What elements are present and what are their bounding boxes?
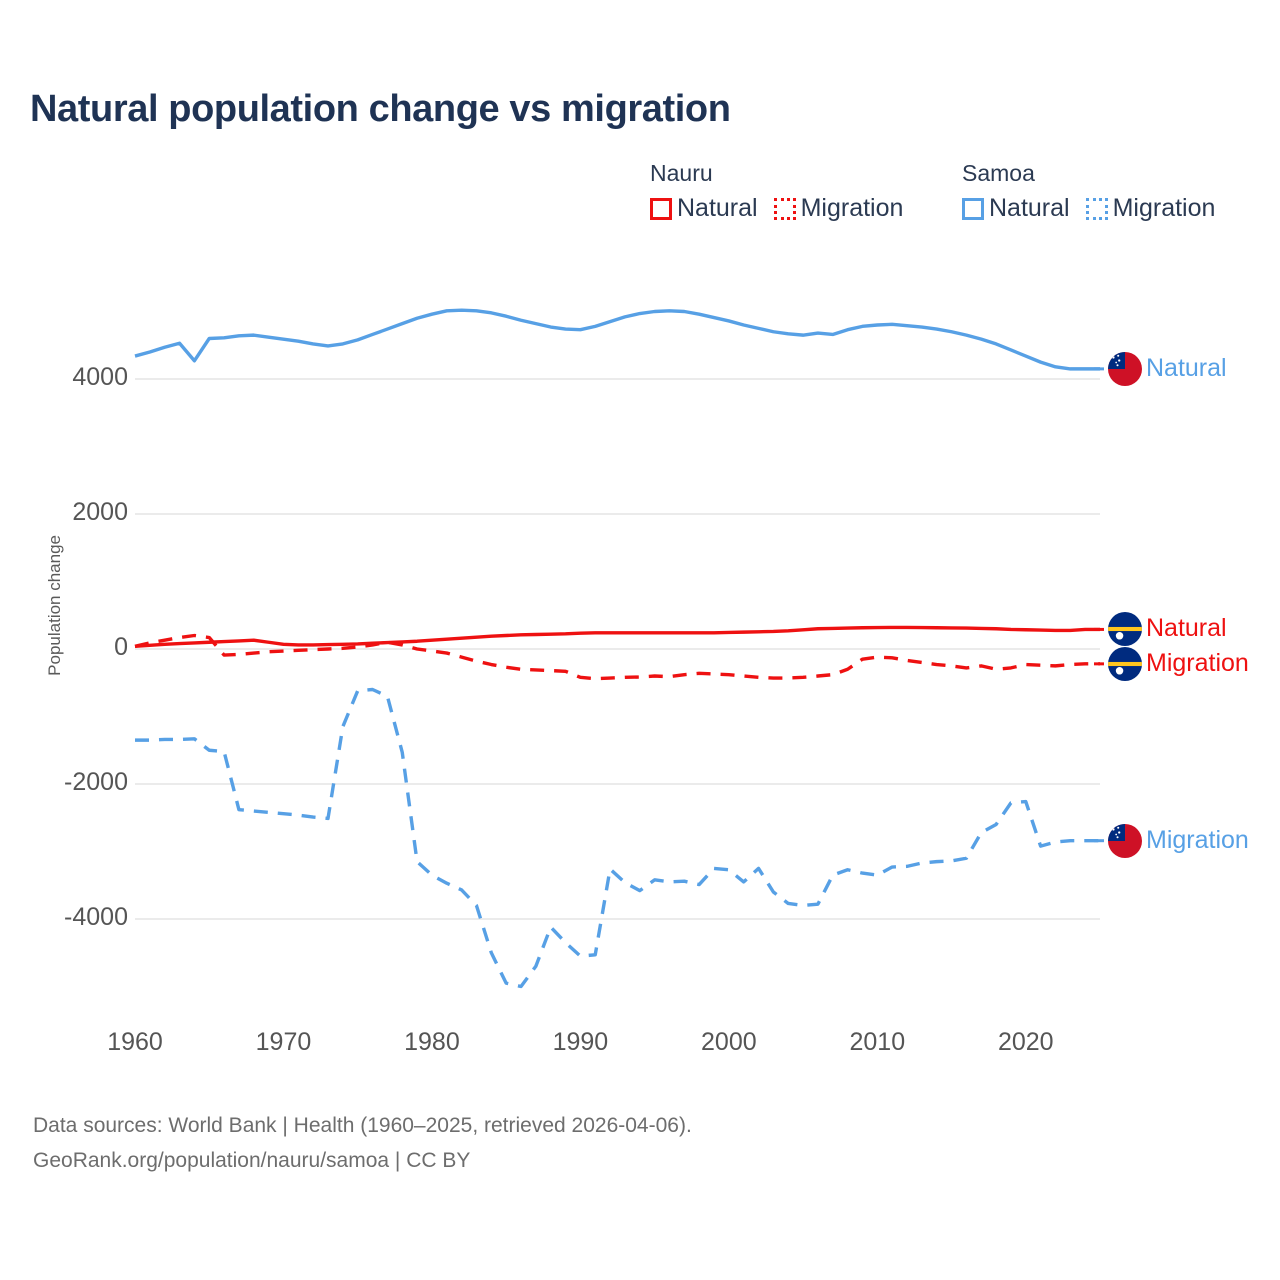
series-line-samoa-migration bbox=[135, 690, 1100, 987]
samoa-star-2 bbox=[1118, 359, 1120, 361]
nauru-stripe bbox=[1108, 662, 1142, 666]
legend-group-nauru: NauruNaturalMigration bbox=[650, 160, 903, 221]
x-tick-label: 2010 bbox=[849, 1028, 905, 1057]
footer-credits: Data sources: World Bank | Health (1960–… bbox=[33, 1108, 692, 1178]
end-label-samoa-natural: Natural bbox=[1146, 356, 1227, 381]
x-tick-label: 1960 bbox=[107, 1028, 163, 1057]
legend-swatch-dotted-icon bbox=[1086, 198, 1108, 220]
page-title: Natural population change vs migration bbox=[30, 88, 731, 131]
x-tick-label: 1990 bbox=[553, 1028, 609, 1057]
y-tick-label: 2000 bbox=[72, 498, 128, 527]
legend-item-label: Migration bbox=[1113, 196, 1216, 221]
samoa-star-1 bbox=[1117, 355, 1119, 357]
series-line-nauru-natural bbox=[135, 627, 1100, 646]
legend-country-name: Nauru bbox=[650, 160, 903, 186]
legend-item-samoa-natural[interactable]: Natural bbox=[962, 196, 1070, 221]
legend-swatch-dotted-icon bbox=[774, 198, 796, 220]
samoa-star-0 bbox=[1112, 356, 1114, 358]
legend-item-label: Natural bbox=[989, 196, 1070, 221]
legend-country-name: Samoa bbox=[962, 160, 1215, 186]
flag-icon-nauru bbox=[1108, 612, 1142, 646]
nauru-star bbox=[1116, 667, 1123, 674]
x-tick-label: 2020 bbox=[998, 1028, 1054, 1057]
legend-item-nauru-migration[interactable]: Migration bbox=[774, 196, 904, 221]
chart-page: Natural population change vs migration N… bbox=[0, 0, 1280, 1280]
samoa-star-1 bbox=[1117, 826, 1119, 828]
end-label-samoa-migration: Migration bbox=[1146, 828, 1249, 853]
legend-item-samoa-migration[interactable]: Migration bbox=[1086, 196, 1216, 221]
x-tick-label: 1980 bbox=[404, 1028, 460, 1057]
nauru-stripe bbox=[1108, 627, 1142, 631]
flag-icon-samoa bbox=[1108, 824, 1142, 858]
samoa-star-3 bbox=[1115, 833, 1117, 835]
legend-item-nauru-natural[interactable]: Natural bbox=[650, 196, 758, 221]
samoa-star-4 bbox=[1117, 364, 1119, 366]
legend-swatch-solid-icon bbox=[650, 198, 672, 220]
series-line-samoa-natural bbox=[135, 310, 1100, 369]
samoa-star-0 bbox=[1112, 828, 1114, 830]
flag-icon-nauru bbox=[1108, 647, 1142, 681]
samoa-star-3 bbox=[1115, 362, 1117, 364]
end-label-nauru-natural: Natural bbox=[1146, 616, 1227, 641]
samoa-star-2 bbox=[1118, 831, 1120, 833]
y-tick-label: 0 bbox=[114, 633, 128, 662]
legend-item-label: Migration bbox=[801, 196, 904, 221]
samoa-canton bbox=[1108, 352, 1125, 369]
samoa-canton bbox=[1108, 824, 1125, 841]
footer-line-1: Data sources: World Bank | Health (1960–… bbox=[33, 1108, 692, 1143]
legend-item-label: Natural bbox=[677, 196, 758, 221]
samoa-star-4 bbox=[1117, 836, 1119, 838]
flag-icon-samoa bbox=[1108, 352, 1142, 386]
footer-line-2: GeoRank.org/population/nauru/samoa | CC … bbox=[33, 1143, 692, 1178]
legend-swatch-solid-icon bbox=[962, 198, 984, 220]
x-tick-label: 2000 bbox=[701, 1028, 757, 1057]
y-axis-title: Population change bbox=[45, 535, 65, 676]
end-label-nauru-migration: Migration bbox=[1146, 651, 1249, 676]
y-tick-label: 4000 bbox=[72, 363, 128, 392]
series-line-nauru-migration bbox=[135, 636, 1100, 679]
legend-items: NaturalMigration bbox=[962, 196, 1215, 221]
nauru-star bbox=[1116, 632, 1123, 639]
chart-legend: NauruNaturalMigrationSamoaNaturalMigrati… bbox=[640, 160, 1260, 242]
legend-group-samoa: SamoaNaturalMigration bbox=[962, 160, 1215, 221]
y-tick-label: -2000 bbox=[64, 768, 128, 797]
y-tick-label: -4000 bbox=[64, 903, 128, 932]
x-tick-label: 1970 bbox=[256, 1028, 312, 1057]
legend-items: NaturalMigration bbox=[650, 196, 903, 221]
